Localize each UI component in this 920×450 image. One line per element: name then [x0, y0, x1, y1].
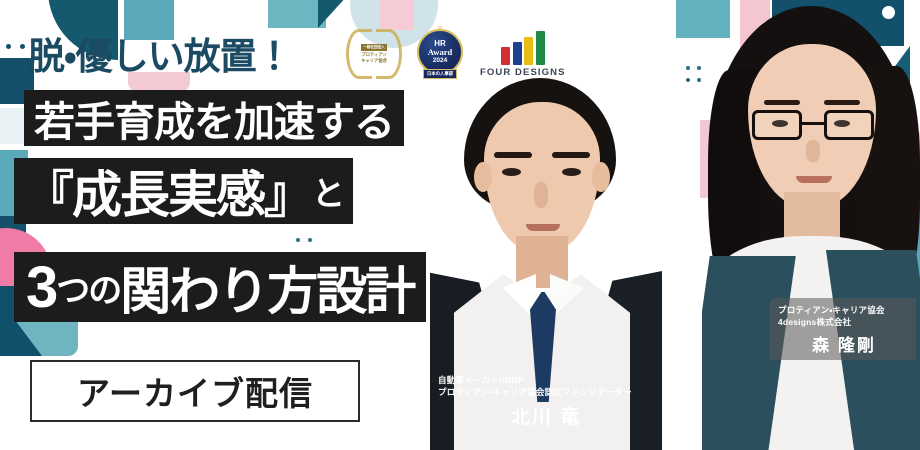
logo-bar-1 [501, 47, 510, 65]
nose [534, 182, 548, 208]
speaker-caption-left: 自動車メーカーHRBP プロティアン・キャリア協会認定ファシリテーター 北川 竜 [438, 374, 654, 429]
mouth [526, 224, 560, 231]
logo-bar-2 [513, 42, 522, 65]
laurel-right-icon [376, 29, 402, 79]
eyebrow-left [764, 100, 800, 105]
logo-bar-3 [524, 37, 533, 65]
mouth [796, 176, 832, 183]
title-line-3-counter: つの [56, 263, 120, 312]
title-line-3: 3 つの 関わり方設計 [14, 252, 426, 322]
logo-bar-4 [536, 31, 545, 65]
title-line-2: 『成長実感』 と [14, 158, 353, 224]
eye-left [502, 168, 521, 176]
certified-association-badge: 一般社団法人 プロティアン キャリア協会 [344, 25, 404, 83]
archive-delivery-label: アーカイブ配信 [30, 360, 360, 422]
ear-left [474, 162, 492, 192]
logo-bars [501, 31, 545, 65]
hr-award-line-2: Award [428, 48, 452, 57]
nose [806, 140, 820, 162]
eyebrow-right [824, 100, 860, 105]
badge-row: 一般社団法人 プロティアン キャリア協会 ♛ HR Award 2024 日本の… [344, 24, 566, 84]
title-line-2-suffix: と [312, 167, 343, 215]
speaker-photo-right [702, 0, 920, 450]
speaker-caption-right: プロティアン・キャリア協会 4designs株式会社 森 隆剛 [770, 298, 916, 360]
hr-award-ribbon: 日本の人事部 [423, 69, 457, 79]
speaker-role-1: プロティアン・キャリア協会 [778, 304, 910, 316]
speaker-role-1: 自動車メーカーHRBP [438, 374, 654, 386]
title-line-2-main: 『成長実感』 [24, 155, 312, 227]
speaker-role-2: 4designs株式会社 [778, 316, 910, 328]
headline-lead: 脱・優しい放置！ [28, 26, 292, 80]
speaker-name: 北川 竜 [438, 402, 654, 429]
glasses-icon [752, 110, 874, 140]
title-line-3-rest: 関わり方設計 [120, 250, 414, 324]
title-line-1: 若手育成を加速する [24, 90, 404, 146]
eyebrow-right [552, 152, 590, 158]
speaker-name: 森 隆剛 [778, 331, 910, 356]
hr-award-year: 2024 [433, 57, 447, 64]
crown-icon: ♛ [437, 25, 443, 33]
ear-right [592, 162, 610, 192]
hr-award-badge: ♛ HR Award 2024 日本の人事部 [414, 26, 466, 82]
speaker-role-2: プロティアン・キャリア協会認定ファシリテーター [438, 386, 654, 398]
eyebrow-left [494, 152, 532, 158]
eye-right [562, 168, 581, 176]
title-line-3-number: 3 [26, 254, 56, 321]
logo-label: FOUR DESIGNS [480, 67, 566, 78]
laurel-left-icon [346, 29, 372, 79]
four-designs-logo: FOUR DESIGNS [480, 31, 566, 78]
seminar-banner: 脱・優しい放置！ 若手育成を加速する 『成長実感』 と 3 つの 関わり方設計 … [0, 0, 920, 450]
